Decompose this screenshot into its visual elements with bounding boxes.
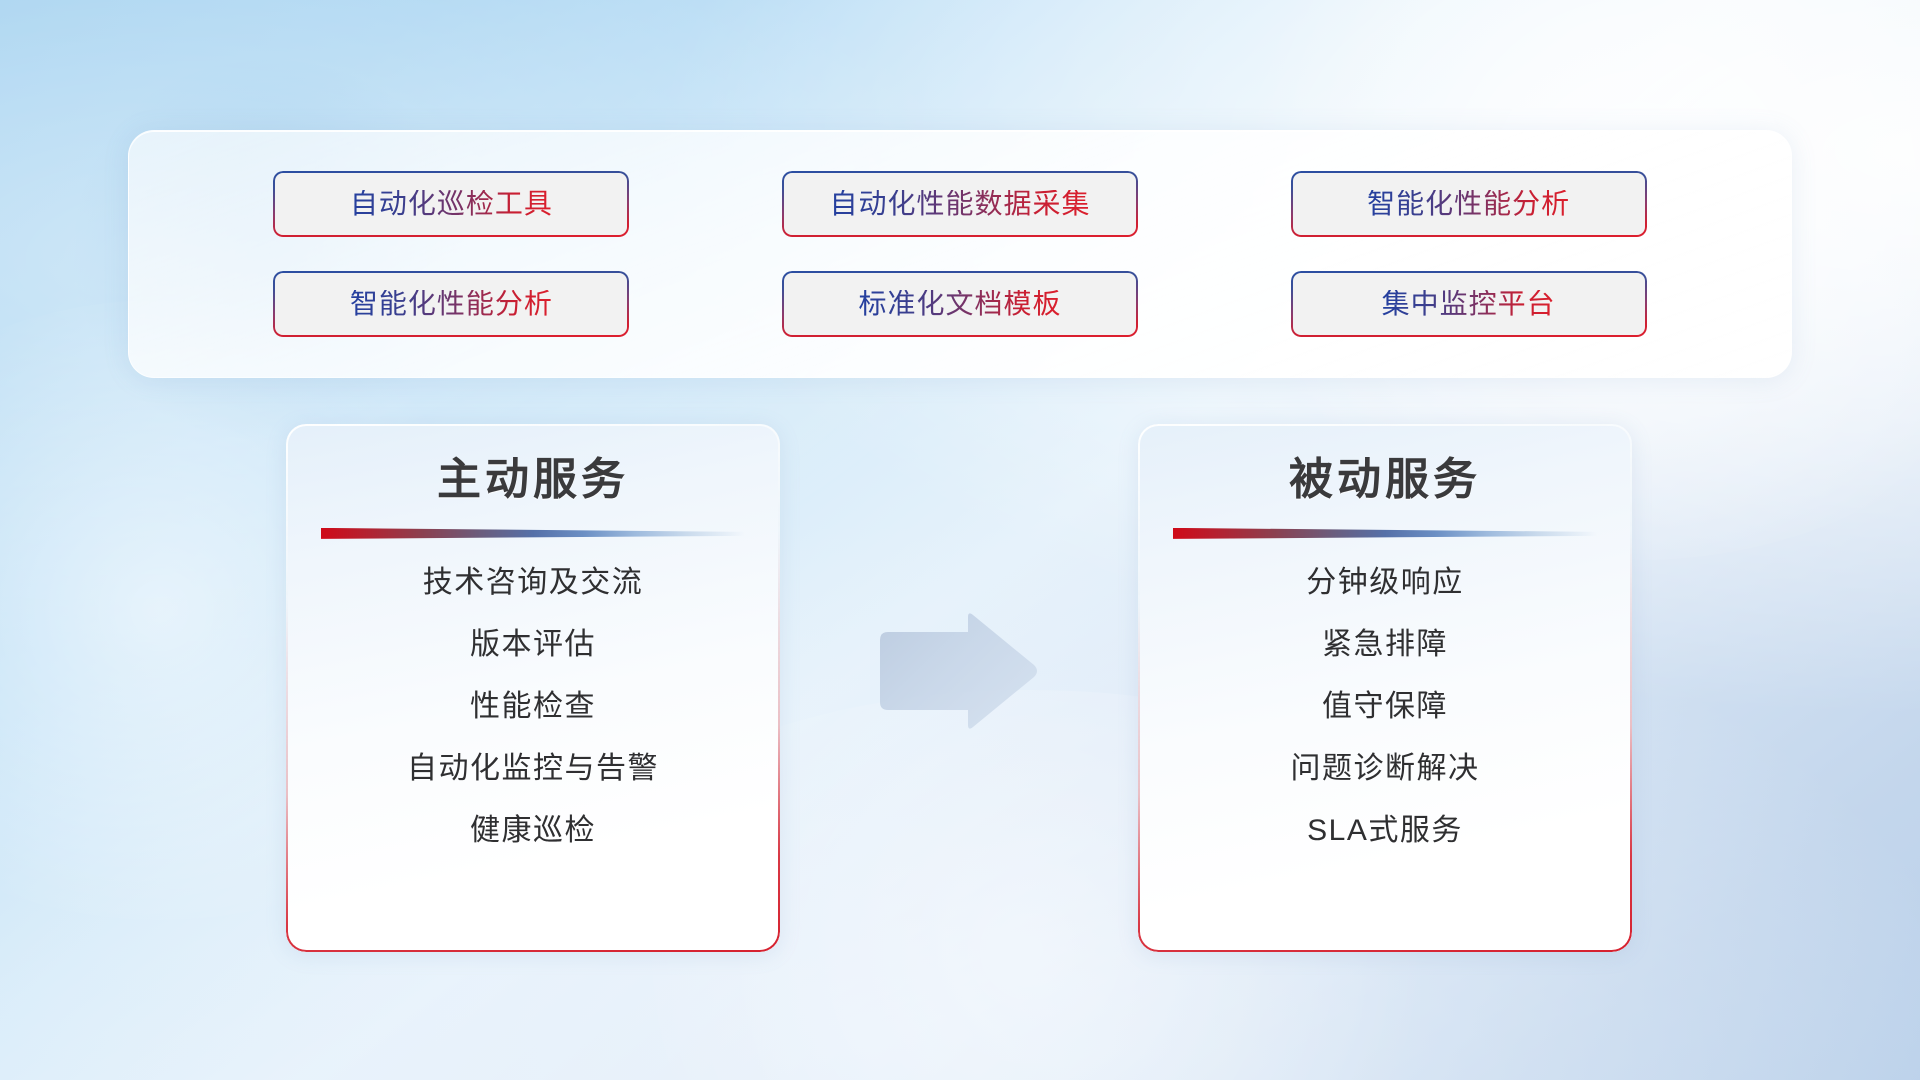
service-card-active[interactable]: 主动服务 技术咨询及交流 版本评估 性能检查 自动化监控与告警 健康巡检 bbox=[286, 424, 780, 952]
capability-pill-label: 自动化性能数据采集 bbox=[829, 190, 1090, 218]
service-list-item: 问题诊断解决 bbox=[1291, 751, 1480, 787]
title-divider bbox=[1173, 528, 1597, 539]
capability-pill-3[interactable]: 智能化性能分析 bbox=[273, 271, 629, 337]
capability-pill-1[interactable]: 自动化性能数据采集 bbox=[782, 171, 1138, 237]
service-card-title: 主动服务 bbox=[437, 454, 629, 506]
diagram-canvas: 自动化巡检工具 自动化性能数据采集 智能化性能分析 智能化性能分析 标准化文档模… bbox=[0, 0, 1920, 1080]
service-list-item: 自动化监控与告警 bbox=[407, 751, 659, 787]
service-card-body: 被动服务 分钟级响应 紧急排障 值守保障 问题诊断解决 SLA式服务 bbox=[1138, 424, 1632, 952]
capability-pill-label: 智能化性能分析 bbox=[350, 290, 553, 318]
service-list-item: 版本评估 bbox=[470, 627, 596, 663]
capability-pill-label: 自动化巡检工具 bbox=[350, 190, 553, 218]
capability-pill-label: 集中监控平台 bbox=[1382, 290, 1556, 318]
title-divider bbox=[321, 528, 745, 539]
service-card-body: 主动服务 技术咨询及交流 版本评估 性能检查 自动化监控与告警 健康巡检 bbox=[286, 424, 780, 952]
capability-pill-4[interactable]: 标准化文档模板 bbox=[782, 271, 1138, 337]
service-card-title: 被动服务 bbox=[1289, 454, 1481, 506]
title-divider-bar bbox=[1173, 528, 1597, 539]
capability-pill-label: 智能化性能分析 bbox=[1367, 190, 1570, 218]
capability-pill-panel: 自动化巡检工具 自动化性能数据采集 智能化性能分析 智能化性能分析 标准化文档模… bbox=[128, 130, 1792, 378]
capability-pill-2[interactable]: 智能化性能分析 bbox=[1291, 171, 1647, 237]
service-item-list: 分钟级响应 紧急排障 值守保障 问题诊断解决 SLA式服务 bbox=[1174, 543, 1596, 849]
capability-pill-5[interactable]: 集中监控平台 bbox=[1291, 271, 1647, 337]
service-item-list: 技术咨询及交流 版本评估 性能检查 自动化监控与告警 健康巡检 bbox=[322, 543, 744, 849]
service-list-item: 性能检查 bbox=[470, 689, 596, 725]
service-list-item: 技术咨询及交流 bbox=[423, 565, 644, 601]
service-list-item: 紧急排障 bbox=[1322, 627, 1448, 663]
service-list-item: 值守保障 bbox=[1322, 689, 1448, 725]
service-list-item: 分钟级响应 bbox=[1306, 565, 1464, 601]
service-card-passive[interactable]: 被动服务 分钟级响应 紧急排障 值守保障 问题诊断解决 SLA式服务 bbox=[1138, 424, 1632, 952]
capability-pill-label: 标准化文档模板 bbox=[858, 290, 1061, 318]
title-divider-bar bbox=[321, 528, 745, 539]
capability-pill-grid: 自动化巡检工具 自动化性能数据采集 智能化性能分析 智能化性能分析 标准化文档模… bbox=[129, 131, 1791, 377]
right-arrow-icon bbox=[872, 612, 1040, 730]
service-list-item: 健康巡检 bbox=[470, 813, 596, 849]
capability-pill-0[interactable]: 自动化巡检工具 bbox=[273, 171, 629, 237]
service-list-item: SLA式服务 bbox=[1307, 813, 1463, 849]
